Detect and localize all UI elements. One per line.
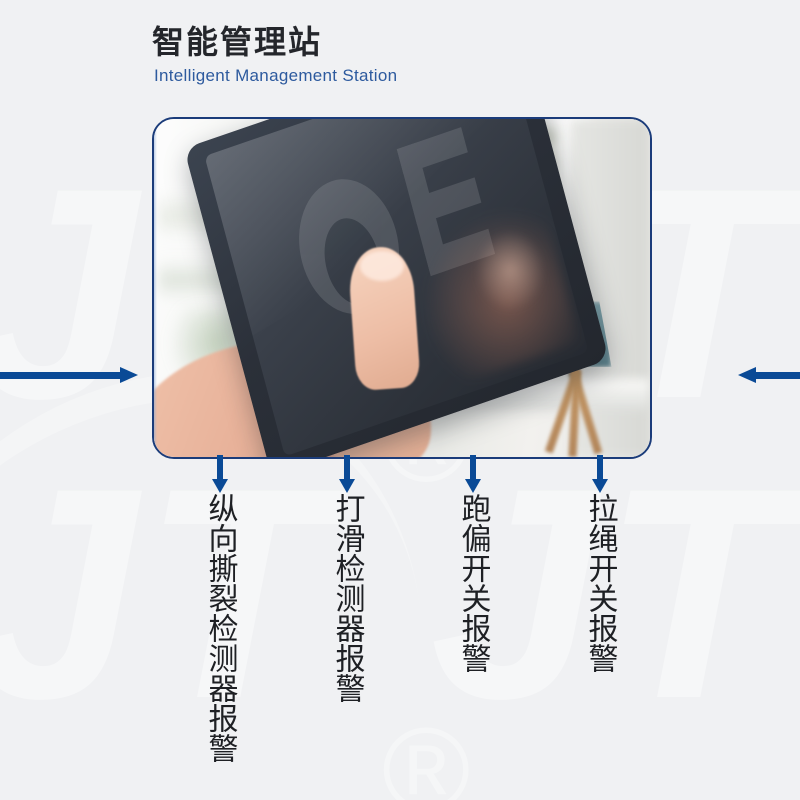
callout-longitudinal-tear: 纵向撕裂检测器报警 — [197, 455, 243, 763]
callout-label: 纵向撕裂检测器报警 — [204, 493, 237, 763]
card-inner-edge — [154, 119, 157, 457]
arrow-head — [465, 479, 481, 493]
callout-arrow-down-icon — [212, 455, 228, 491]
callout-slip-detector: 打滑检测器报警 — [324, 455, 370, 703]
watermark-letters: JT — [0, 420, 332, 766]
photo-scene — [154, 119, 650, 457]
page-title: 智能管理站 — [152, 22, 397, 62]
callout-arrow-down-icon — [339, 455, 355, 491]
product-photo-card — [152, 117, 652, 459]
page-subtitle: Intelligent Management Station — [154, 66, 397, 86]
arrow-right-pointing-left-icon — [738, 367, 800, 383]
registered-mark-icon: ® — [382, 710, 470, 800]
callout-label: 打滑检测器报警 — [331, 493, 364, 703]
arrow-head — [120, 367, 138, 383]
arrow-head — [339, 479, 355, 493]
callout-arrow-down-icon — [465, 455, 481, 491]
arrow-shaft — [597, 455, 603, 481]
callout-label: 跑偏开关报警 — [457, 493, 490, 673]
callout-deviation-switch: 跑偏开关报警 — [450, 455, 496, 673]
callout-arrow-down-icon — [592, 455, 608, 491]
arrow-shaft — [0, 372, 122, 379]
arrow-head — [738, 367, 756, 383]
arrow-shaft — [756, 372, 800, 379]
arrow-shaft — [217, 455, 223, 481]
arrow-left-pointing-right-icon — [0, 367, 140, 383]
arrow-head — [592, 479, 608, 493]
callout-label: 拉绳开关报警 — [584, 493, 617, 673]
page-header: 智能管理站 Intelligent Management Station — [152, 22, 397, 86]
arrow-shaft — [470, 455, 476, 481]
arrow-shaft — [344, 455, 350, 481]
arrow-head — [212, 479, 228, 493]
callout-pullcord-switch: 拉绳开关报警 — [577, 455, 623, 673]
